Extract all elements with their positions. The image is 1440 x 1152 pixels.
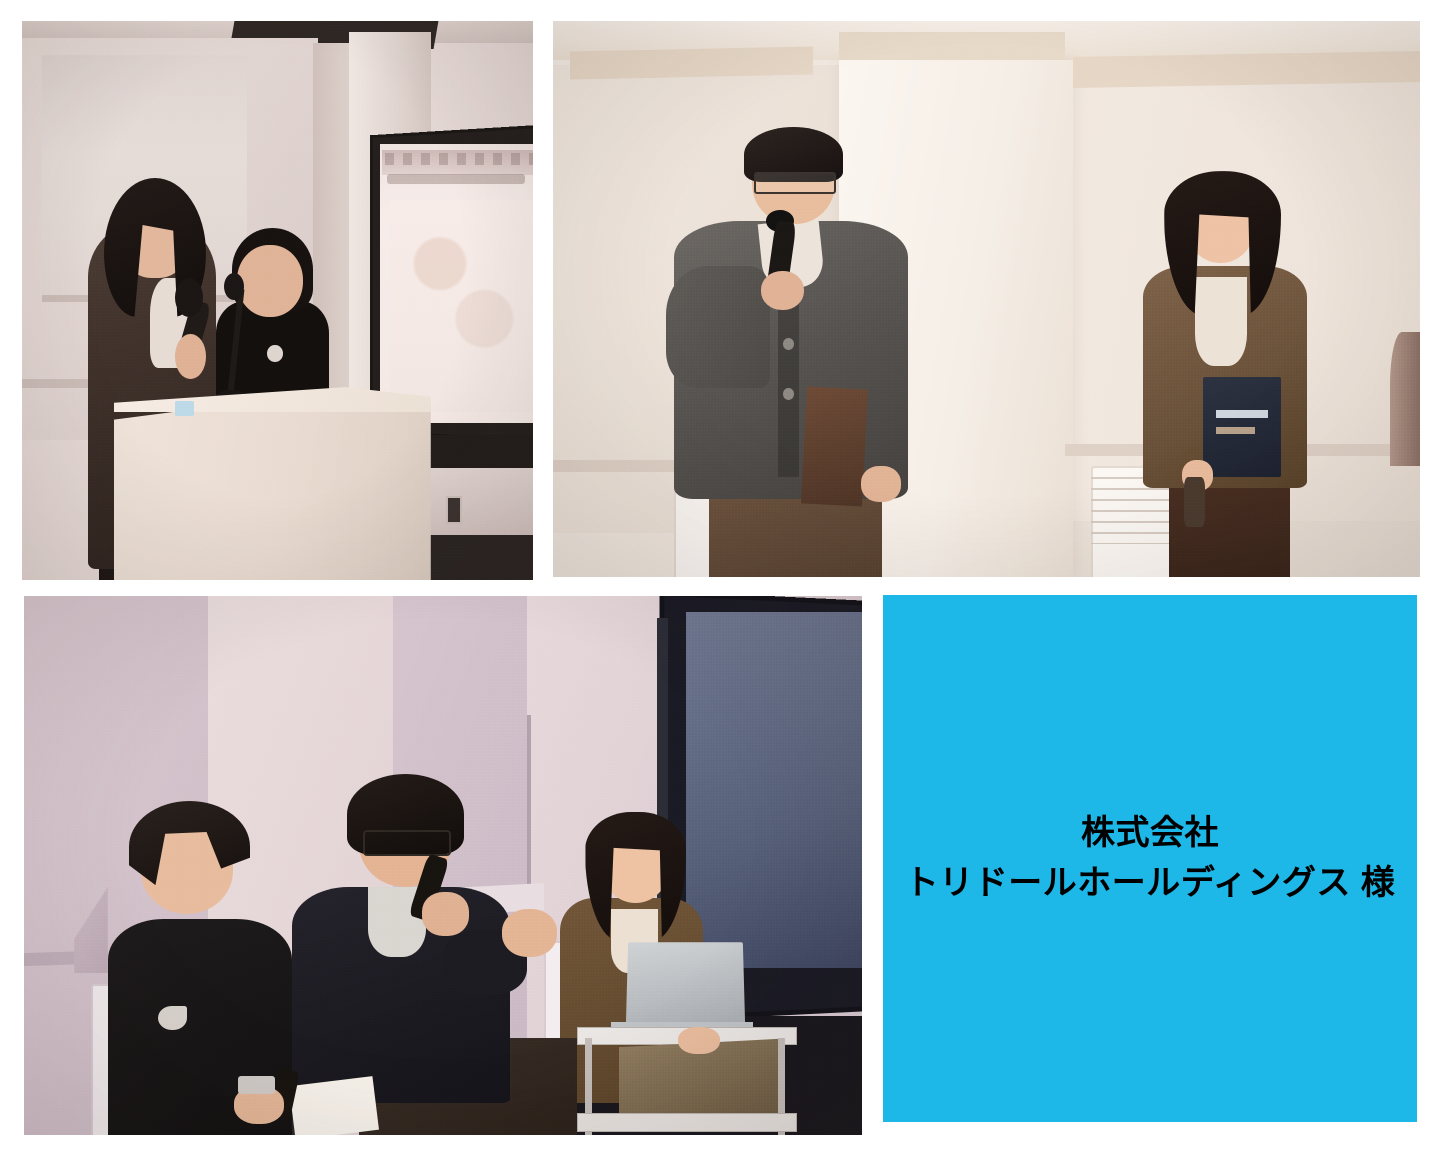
notes-paper [289, 1076, 379, 1135]
photo-podium [22, 21, 533, 580]
cart-bottom-shelf [577, 1113, 797, 1131]
speaker-mic-hand [761, 271, 804, 310]
projected-browser-urlbar [387, 174, 525, 184]
cardigan-button-lower [783, 388, 794, 400]
leather-folder [801, 386, 868, 506]
partial-person-edge [1390, 332, 1420, 465]
eyeglasses-icon [754, 172, 836, 194]
wall-outlet [446, 496, 462, 523]
speaker-lower-hand [861, 466, 901, 502]
clipboard-paper-line-1 [1216, 410, 1268, 418]
podium-front [114, 390, 431, 580]
hanging-cable [527, 715, 531, 909]
clipboard-paper-line-2 [1216, 427, 1255, 434]
wristwatch [238, 1076, 275, 1094]
soffit-left [570, 46, 813, 79]
podium-scene [22, 21, 533, 580]
photo-collage: 株式会社 トリドールホールディングス 様 [0, 0, 1440, 1152]
duo-scene [553, 21, 1420, 577]
speaker-hand [175, 334, 206, 379]
panel-scene [24, 596, 862, 1135]
photo-panel-discussion [24, 596, 862, 1135]
name-badge [175, 401, 193, 416]
laptop-screen [626, 942, 746, 1027]
eyeglasses-icon [363, 830, 451, 856]
speaker-arm [666, 266, 770, 388]
tshirt-logo-icon [158, 1006, 186, 1031]
staff-shirt-logo [267, 345, 282, 362]
projected-slide-content [390, 200, 533, 412]
caption-line-company-type: 株式会社 [905, 809, 1396, 858]
panelist-2-gesturing-hand [502, 909, 557, 958]
photo-duo [553, 21, 1420, 577]
cardigan-button-upper [783, 338, 794, 350]
projection-screen-surface [686, 612, 862, 968]
eyeglasses-bridge [787, 178, 801, 179]
projected-browser-tabs [385, 153, 533, 165]
caption-panel: 株式会社 トリドールホールディングス 様 [883, 595, 1417, 1122]
caption-line-company-name: トリドールホールディングス 様 [905, 859, 1396, 908]
woman-microphone [1184, 477, 1205, 527]
company-name-caption: 株式会社 トリドールホールディングス 様 [905, 809, 1396, 908]
staff-member-head [237, 245, 303, 318]
panelist-2-mic-hand [422, 892, 469, 935]
woman-inner-top [1195, 277, 1247, 366]
soffit-center [839, 32, 1064, 60]
panelist-3-hand [678, 1027, 720, 1054]
